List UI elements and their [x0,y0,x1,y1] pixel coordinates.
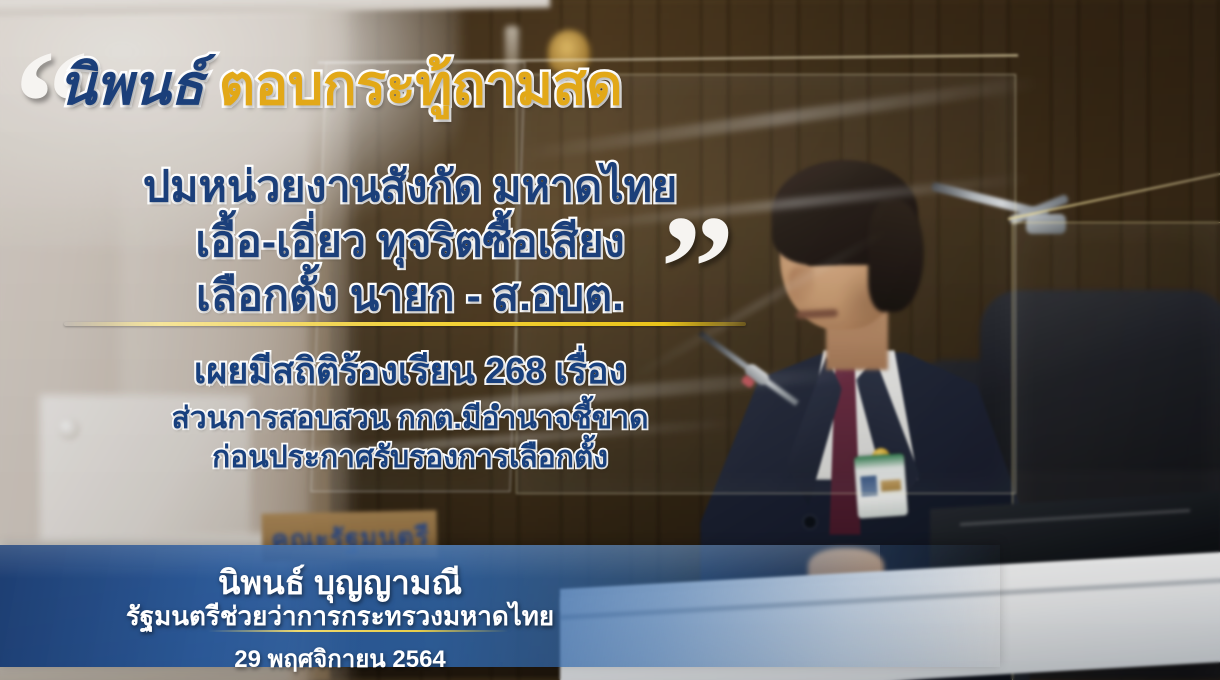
detail-block: เผยมีสถิติร้องเรียน 268 เรื่อง ส่วนการสอ… [60,342,760,477]
news-graphic-card: คณะรัฐมนตรี “ นิพนธ์ ตอบกระทู้ถามสด ปมหน… [0,0,1220,680]
detail-line-3: ก่อนประกาศรับรองการเลือกตั้ง [60,438,760,477]
gold-divider-rule [64,322,746,326]
suit-button [804,516,816,528]
headline-line-4: เลือกตั้ง นายก - ส.อบต. [60,269,760,324]
headline-keyword-rest: ตอบกระทู้ถามสด [219,53,622,116]
detail-line-2: ส่วนการสอบสวน กกต.มีอำนาจชี้ขาด [60,399,760,438]
headline-line-2: ปมหน่วยงานสังกัด มหาดไทย [60,160,760,215]
lower-bar-gold-rule [208,630,508,632]
publish-date: 29 พฤศจิกายน 2564 [0,639,680,678]
detail-line-highlight: เผยมีสถิติร้องเรียน 268 เรื่อง [60,342,760,399]
headline-line-3: เอื้อ-เอี่ยว ทุจริตซื้อเสียง [60,215,760,270]
close-quote-mark: ” [660,193,729,343]
headline-keyword: นิพนธ์ [58,53,204,116]
headline-subblock: ปมหน่วยงานสังกัด มหาดไทย เอื้อ-เอี่ยว ทุ… [60,160,760,324]
headline-line-1: นิพนธ์ ตอบกระทู้ถามสด [58,56,758,115]
